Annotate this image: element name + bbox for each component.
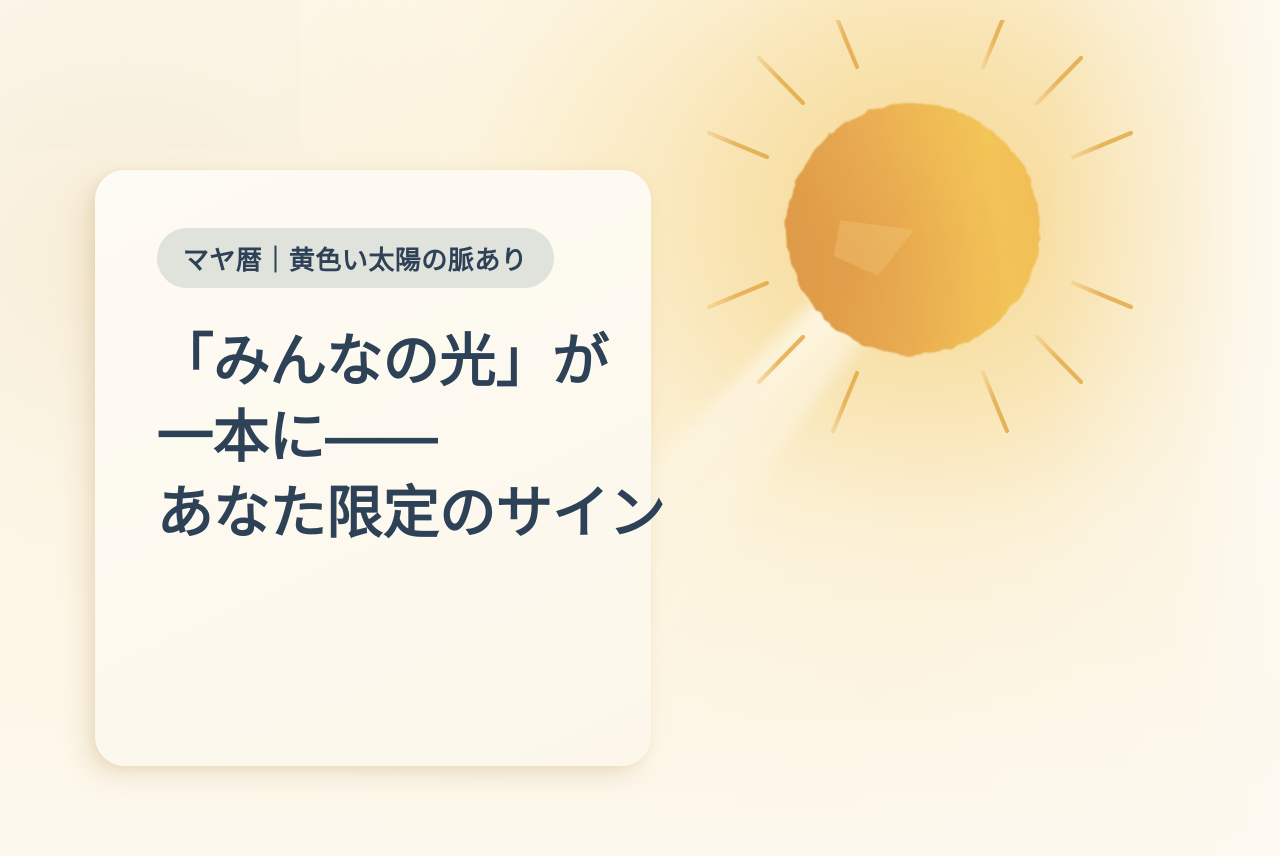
- category-badge: マヤ暦｜黄色い太陽の脈あり: [157, 228, 554, 288]
- headline-line-2: 一本に——: [157, 400, 623, 476]
- headline: 「みんなの光」が 一本に—— あなた限定のサイン: [157, 324, 623, 551]
- sun-illustration: [700, 20, 1140, 440]
- content-card: マヤ暦｜黄色い太陽の脈あり 「みんなの光」が 一本に—— あなた限定のサイン: [95, 170, 651, 766]
- banner-canvas: マヤ暦｜黄色い太陽の脈あり 「みんなの光」が 一本に—— あなた限定のサイン: [0, 0, 1280, 856]
- headline-line-1: 「みんなの光」が: [157, 324, 623, 400]
- sun-disc-icon: [782, 100, 1044, 358]
- card-content: マヤ暦｜黄色い太陽の脈あり 「みんなの光」が 一本に—— あなた限定のサイン: [157, 228, 623, 551]
- headline-line-3: あなた限定のサイン: [157, 476, 623, 552]
